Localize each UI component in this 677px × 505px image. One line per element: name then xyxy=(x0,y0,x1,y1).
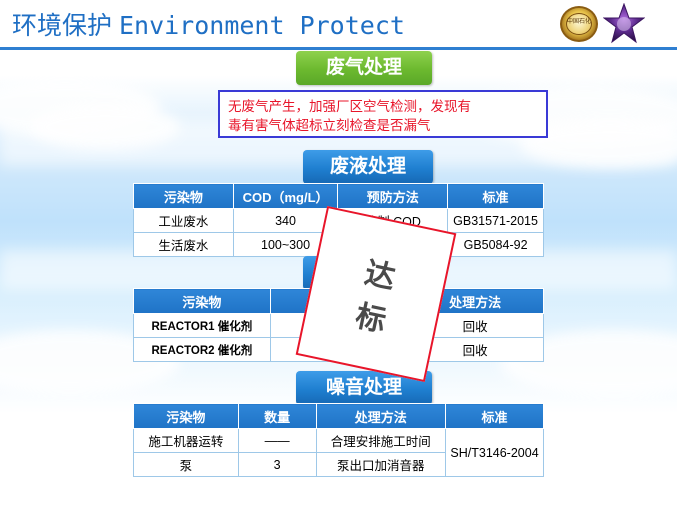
waste-gas-note-line1: 无废气产生，加强厂区空气检测，发现有 xyxy=(228,97,538,116)
company-seal-icon: 中国石化 xyxy=(560,6,598,42)
header-divider xyxy=(0,47,677,50)
table-row: 施工机器运转 —— 合理安排施工时间 SH/T3146-2004 xyxy=(134,429,544,453)
noise-table: 污染物 数量 处理方法 标准 施工机器运转 —— 合理安排施工时间 SH/T31… xyxy=(133,403,544,477)
cell: 泵出口加消音器 xyxy=(316,453,446,477)
cell: REACTOR1 催化剂 xyxy=(134,314,271,338)
section-title-waste-gas: 废气处理 xyxy=(296,51,432,85)
page-header: 环境保护 Environment Protect 中国石化 xyxy=(0,0,677,48)
cell: 生活废水 xyxy=(134,233,234,257)
waste-gas-note: 无废气产生，加强厂区空气检测，发现有 毒有害气体超标立刻检查是否漏气 xyxy=(218,90,548,138)
page-title-cn: 环境保护 xyxy=(12,12,112,40)
col-header: 标准 xyxy=(448,184,544,209)
cell: —— xyxy=(238,429,316,453)
cell: GB31571-2015 xyxy=(448,209,544,233)
cell: GB5084-92 xyxy=(448,233,544,257)
page-title: 环境保护 Environment Protect xyxy=(12,6,405,42)
star-logo-icon xyxy=(603,3,645,45)
cell: REACTOR2 催化剂 xyxy=(134,338,271,362)
table-header-row: 污染物 数量 处理方法 标准 xyxy=(134,404,544,429)
col-header: 预防方法 xyxy=(338,184,448,209)
cell: 3 xyxy=(238,453,316,477)
cell: 施工机器运转 xyxy=(134,429,239,453)
section-title-waste-liquid: 废液处理 xyxy=(303,150,433,184)
cell: 泵 xyxy=(134,453,239,477)
page-title-en: Environment Protect xyxy=(119,11,405,40)
col-header: 标准 xyxy=(446,404,544,429)
col-header: 污染物 xyxy=(134,184,234,209)
waste-gas-note-line2: 毒有害气体超标立刻检查是否漏气 xyxy=(228,116,538,135)
col-header: COD（mg/L） xyxy=(233,184,338,209)
cell: 合理安排施工时间 xyxy=(316,429,446,453)
table-header-row: 污染物 COD（mg/L） 预防方法 标准 xyxy=(134,184,544,209)
cloud-2 xyxy=(30,104,180,150)
cell: SH/T3146-2004 xyxy=(446,429,544,477)
col-header: 数量 xyxy=(238,404,316,429)
col-header: 污染物 xyxy=(134,289,271,314)
col-header: 处理方法 xyxy=(316,404,446,429)
col-header: 污染物 xyxy=(134,404,239,429)
cell: 工业废水 xyxy=(134,209,234,233)
company-seal-label: 中国石化 xyxy=(562,19,596,26)
